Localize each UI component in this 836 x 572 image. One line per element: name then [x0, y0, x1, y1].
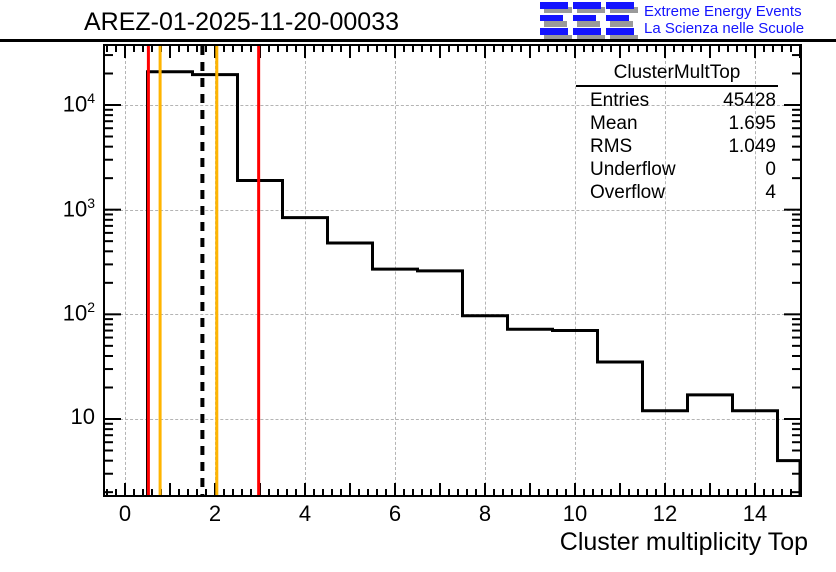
x-tick-label: 12	[635, 501, 695, 527]
stats-divider	[576, 85, 778, 87]
y-tick-label: 103	[25, 195, 95, 222]
stats-row: Underflow0	[568, 158, 786, 181]
stats-label: Overflow	[590, 181, 665, 204]
x-tick-label: 4	[275, 501, 335, 527]
canvas: AREZ-01-2025-11-20-00033 Extreme Energy …	[0, 0, 836, 572]
stats-value: 45428	[723, 89, 776, 112]
x-tick-label: 14	[725, 501, 785, 527]
stats-title: ClusterMultTop	[568, 62, 786, 85]
y-tick-label: 10	[25, 404, 95, 430]
x-tick-label: 8	[455, 501, 515, 527]
stats-value: 1.695	[728, 112, 776, 135]
stats-value: 0	[765, 158, 776, 181]
x-tick-label: 0	[95, 501, 155, 527]
stats-value: 4	[765, 181, 776, 204]
stats-label: RMS	[590, 135, 632, 158]
stats-label: Entries	[590, 89, 649, 112]
stats-box: ClusterMultTop Entries45428Mean1.695RMS1…	[568, 62, 786, 204]
stats-row: Entries45428	[568, 89, 786, 112]
y-tick-label: 102	[25, 299, 95, 326]
x-tick-label: 6	[365, 501, 425, 527]
stats-label: Mean	[590, 112, 638, 135]
x-axis-title: Cluster multiplicity Top	[560, 528, 808, 557]
stats-value: 1.049	[728, 135, 776, 158]
x-tick-label: 10	[545, 501, 605, 527]
stats-label: Underflow	[590, 158, 676, 181]
y-tick-label: 104	[25, 90, 95, 117]
stats-row: Overflow4	[568, 181, 786, 204]
x-tick-label: 2	[185, 501, 245, 527]
stats-row: RMS1.049	[568, 135, 786, 158]
stats-row: Mean1.695	[568, 112, 786, 135]
